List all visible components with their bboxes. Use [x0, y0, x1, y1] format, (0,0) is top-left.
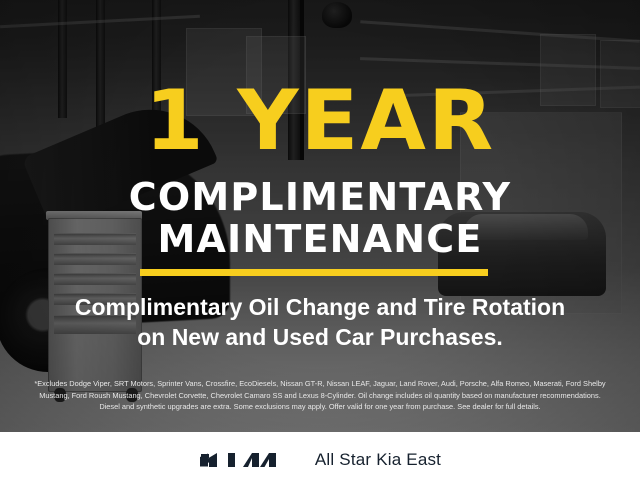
dealer-name: All Star Kia East [315, 450, 441, 470]
headline-complimentary: COMPLIMENTARY [0, 178, 640, 216]
banner-content: 1 YEAR COMPLIMENTARY MAINTENANCE Complim… [0, 0, 640, 488]
disclaimer-line-2: Mustang, Ford Roush Mustang, Chevrolet C… [14, 390, 626, 402]
disclaimer-line-1: *Excludes Dodge Viper, SRT Motors, Sprin… [14, 378, 626, 390]
promotional-banner: 1 YEAR COMPLIMENTARY MAINTENANCE Complim… [0, 0, 640, 488]
yellow-divider-bar [140, 269, 488, 276]
headline-maintenance: MAINTENANCE [0, 220, 640, 258]
disclaimer-line-3: Diesel and synthetic upgrades are extra.… [14, 401, 626, 413]
kia-logo-icon [199, 447, 285, 473]
headline-year: 1 YEAR [0, 79, 640, 162]
disclaimer-text: *Excludes Dodge Viper, SRT Motors, Sprin… [14, 378, 626, 413]
offer-line-1: Complimentary Oil Change and Tire Rotati… [0, 292, 640, 322]
banner-footer: All Star Kia East [0, 432, 640, 488]
offer-line-2: on New and Used Car Purchases. [0, 322, 640, 352]
